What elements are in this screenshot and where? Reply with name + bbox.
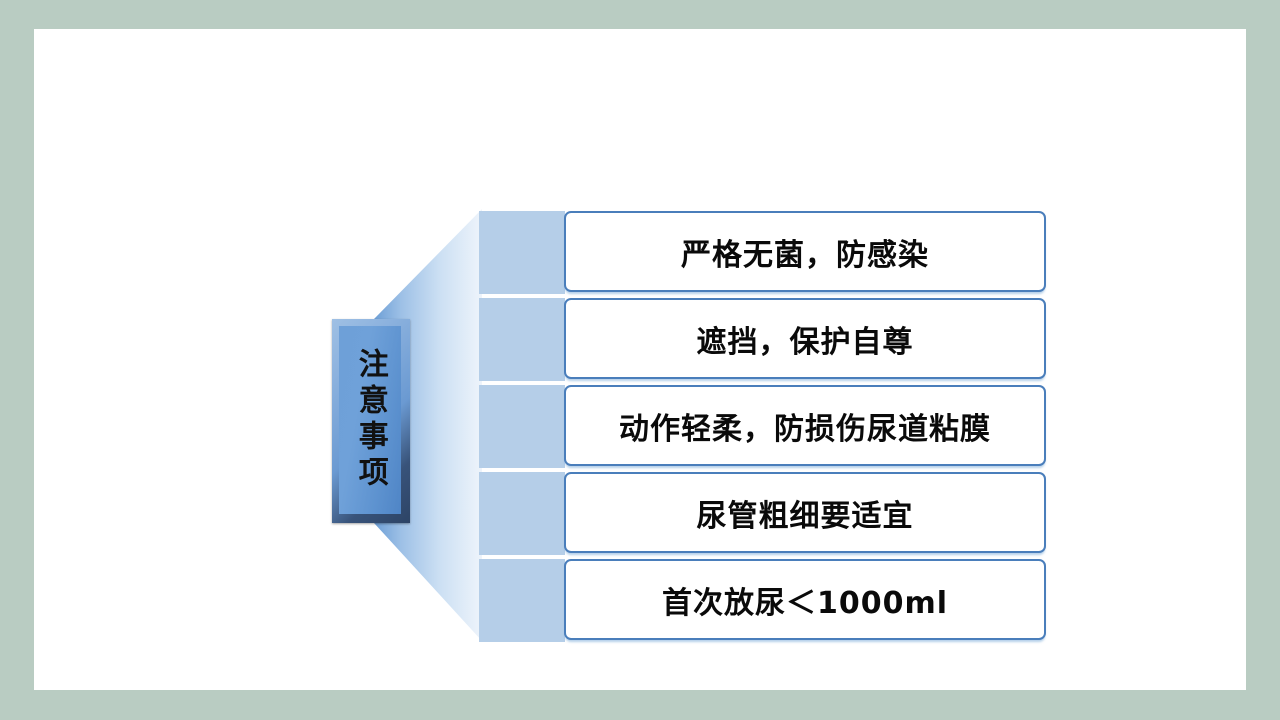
row-chip-4 — [479, 472, 565, 555]
row-chip-1 — [479, 211, 565, 294]
row-text-3: 动作轻柔，防损伤尿道粘膜 — [619, 404, 991, 448]
row-text-5: 首次放尿＜1000ml — [662, 578, 948, 622]
row-card-2[interactable]: 遮挡，保护自尊 — [564, 298, 1046, 379]
row-card-3[interactable]: 动作轻柔，防损伤尿道粘膜 — [564, 385, 1046, 466]
row-text-1: 严格无菌，防感染 — [681, 230, 929, 274]
row-chip-3 — [479, 385, 565, 468]
row-text-4: 尿管粗细要适宜 — [697, 491, 914, 535]
row-chip-5 — [479, 559, 565, 642]
label-inner-face: 注意事项 — [339, 326, 401, 514]
row-card-4[interactable]: 尿管粗细要适宜 — [564, 472, 1046, 553]
row-chip-2 — [479, 298, 565, 381]
row-card-1[interactable]: 严格无菌，防感染 — [564, 211, 1046, 292]
slide-background: 注意事项 严格无菌，防感染 遮挡，保护自尊 动作轻柔，防损伤尿道粘膜 — [0, 0, 1280, 720]
slide-canvas: 注意事项 严格无菌，防感染 遮挡，保护自尊 动作轻柔，防损伤尿道粘膜 — [34, 29, 1246, 690]
row-text-2: 遮挡，保护自尊 — [697, 317, 914, 361]
row-card-5[interactable]: 首次放尿＜1000ml — [564, 559, 1046, 640]
category-label-box[interactable]: 注意事项 — [332, 319, 410, 523]
category-label-text: 注意事项 — [354, 348, 386, 492]
